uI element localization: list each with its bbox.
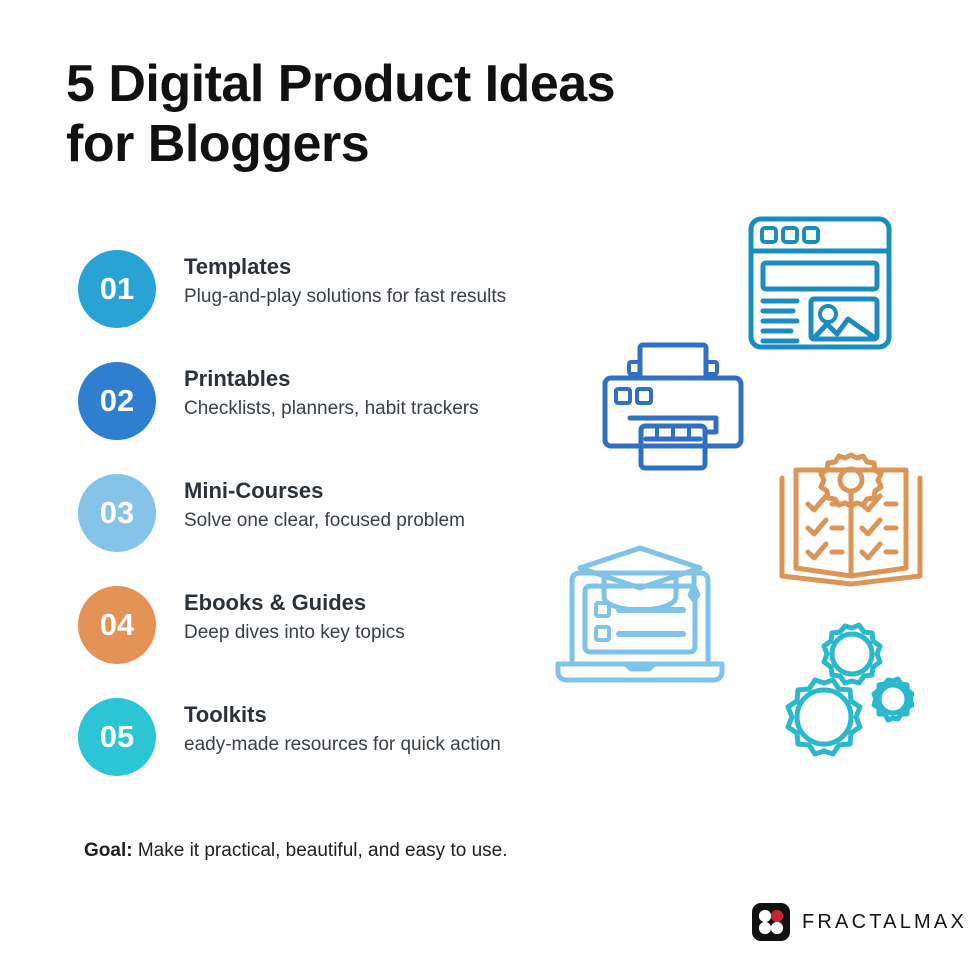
list-item: 03 Mini-Courses Solve one clear, focused… xyxy=(78,472,608,584)
brand-logo: FRACTALMAX xyxy=(752,903,967,941)
printer-icon xyxy=(597,340,747,477)
item-description: eady-made resources for quick action xyxy=(184,733,614,757)
item-number-badge: 03 xyxy=(78,474,156,552)
item-title: Mini-Courses xyxy=(184,478,614,504)
item-text-block: Printables Checklists, planners, habit t… xyxy=(184,366,614,421)
infographic-canvas: 5 Digital Product Ideas for Bloggers 01 … xyxy=(0,0,980,980)
item-text-block: Mini-Courses Solve one clear, focused pr… xyxy=(184,478,614,533)
goal-statement: Goal: Make it practical, beautiful, and … xyxy=(84,840,508,862)
list-item: 04 Ebooks & Guides Deep dives into key t… xyxy=(78,584,608,696)
brand-name: FRACTALMAX xyxy=(802,911,967,934)
item-title: Templates xyxy=(184,254,614,280)
item-number-badge: 05 xyxy=(78,698,156,776)
item-description: Deep dives into key topics xyxy=(184,621,614,645)
page-title: 5 Digital Product Ideas for Bloggers xyxy=(66,54,766,175)
item-number-badge: 02 xyxy=(78,362,156,440)
laptop-graduation-cap-icon xyxy=(552,542,728,693)
goal-text: Make it practical, beautiful, and easy t… xyxy=(133,840,508,861)
list-item: 02 Printables Checklists, planners, habi… xyxy=(78,360,608,472)
item-title: Ebooks & Guides xyxy=(184,590,614,616)
item-text-block: Toolkits eady-made resources for quick a… xyxy=(184,702,614,757)
product-ideas-list: 01 Templates Plug-and-play solutions for… xyxy=(78,248,608,808)
browser-window-icon xyxy=(745,213,895,358)
item-title: Toolkits xyxy=(184,702,614,728)
item-number-badge: 01 xyxy=(78,250,156,328)
item-text-block: Ebooks & Guides Deep dives into key topi… xyxy=(184,590,614,645)
open-book-gear-icon xyxy=(762,452,940,599)
list-item: 05 Toolkits eady-made resources for quic… xyxy=(78,696,608,808)
item-description: Checklists, planners, habit trackers xyxy=(184,397,614,421)
goal-label: Goal: xyxy=(84,840,133,861)
fractalmax-logo-mark-icon xyxy=(752,903,790,941)
list-item: 01 Templates Plug-and-play solutions for… xyxy=(78,248,608,360)
item-description: Solve one clear, focused problem xyxy=(184,509,614,533)
gears-icon xyxy=(762,608,914,783)
item-text-block: Templates Plug-and-play solutions for fa… xyxy=(184,254,614,309)
item-number-badge: 04 xyxy=(78,586,156,664)
item-title: Printables xyxy=(184,366,614,392)
item-description: Plug-and-play solutions for fast results xyxy=(184,285,614,309)
